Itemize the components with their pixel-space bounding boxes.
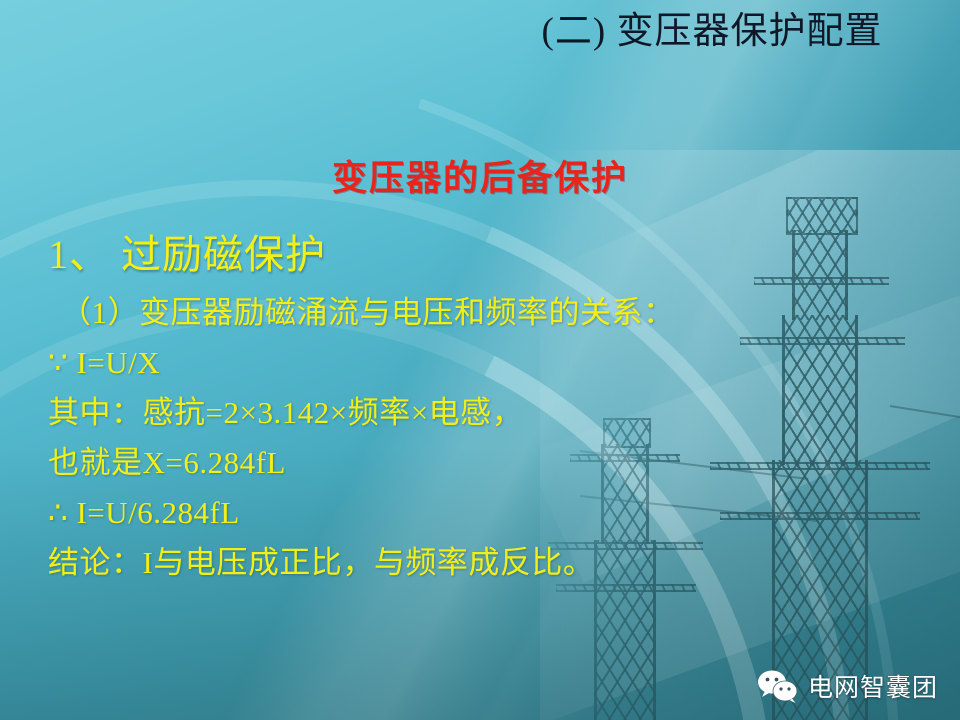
- body-line: （1）变压器励磁涌流与电压和频率的关系：: [48, 288, 928, 338]
- slide-subject-title: 变压器的后备保护: [0, 150, 960, 201]
- body-line: ∴ I=U/6.284fL: [48, 488, 928, 538]
- slide-deck-title: (二) 变压器保护配置: [512, 10, 912, 54]
- tower-cap: [786, 197, 858, 235]
- body-line: 结论：I与电压成正比，与频率成反比。: [48, 538, 928, 588]
- tower-crossarm: [754, 277, 889, 285]
- body-line: 其中：感抗=2×3.142×频率×电感，: [48, 388, 928, 438]
- slide-body: （1）变压器励磁涌流与电压和频率的关系： ∵ I=U/X 其中：感抗=2×3.1…: [48, 288, 928, 588]
- section-heading: 1、 过励磁保护: [48, 222, 326, 280]
- watermark-label: 电网智囊团: [808, 668, 938, 704]
- body-line: 也就是X=6.284fL: [48, 438, 928, 488]
- presentation-slide: (二) 变压器保护配置 变压器的后备保护 1、 过励磁保护 （1）变压器励磁涌流…: [0, 0, 960, 720]
- wechat-icon: [757, 669, 799, 703]
- wechat-watermark: 电网智囊团: [757, 668, 938, 704]
- body-line: ∵ I=U/X: [48, 338, 928, 388]
